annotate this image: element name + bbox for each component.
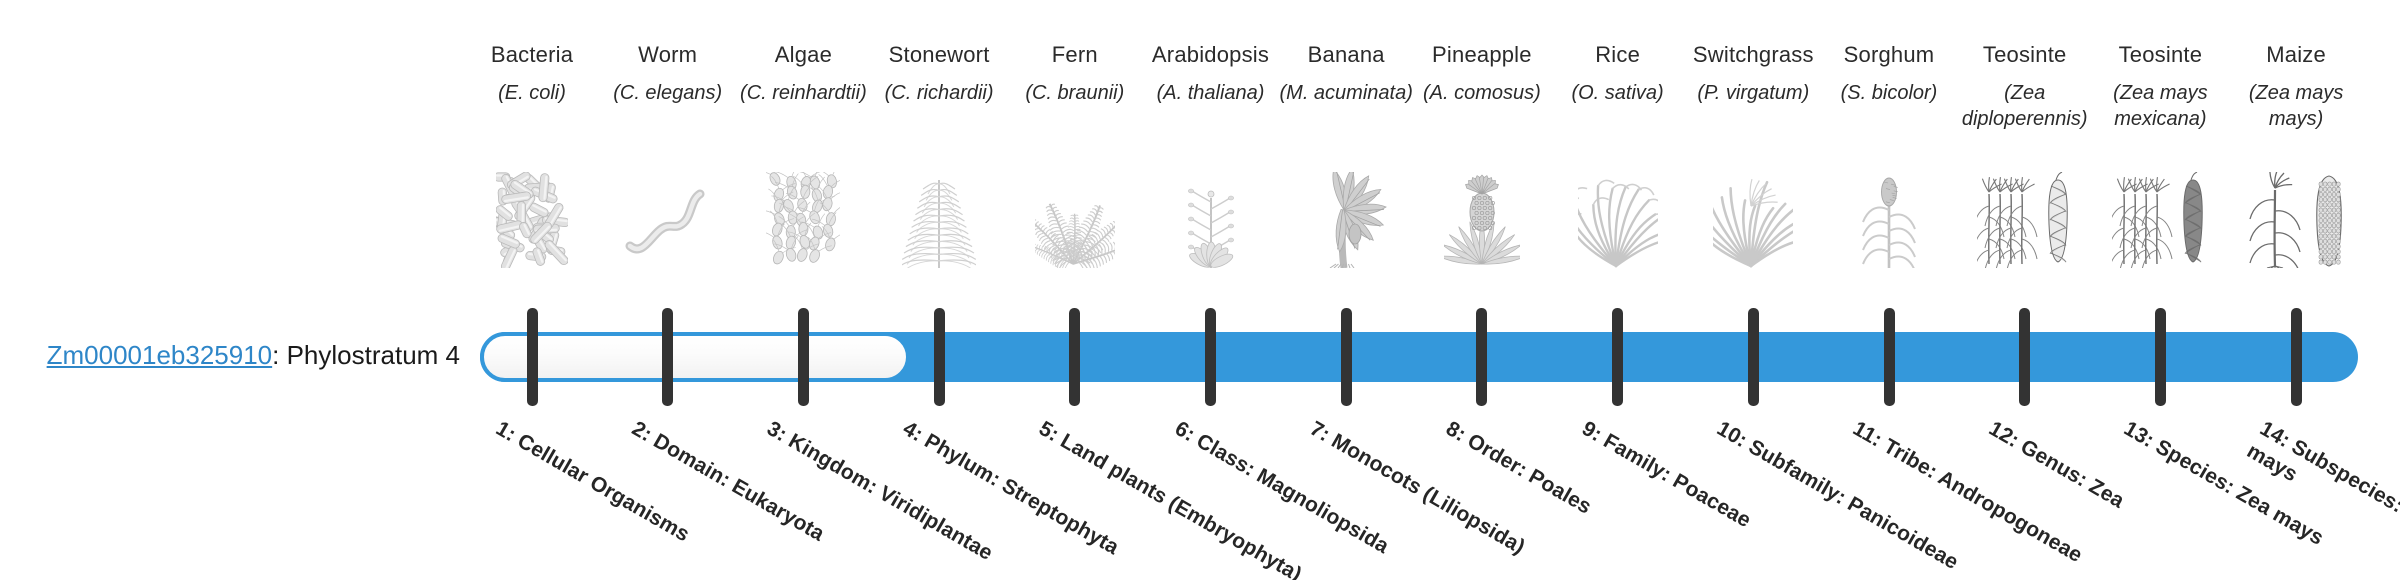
phylostratum-tick-6[interactable] [1205,308,1216,406]
phylostratum-rank-label-2: 2: Domain: Eukaryota [627,416,900,580]
sorghum-illustration [1821,168,1957,268]
teosinte-diploperennis-illustration [1957,168,2093,268]
phylostratum-tick-14[interactable] [2291,308,2302,406]
species-column-9: Rice(O. sativa) [1550,40,1686,106]
species-latin-name: (Zea diploperennis) [1957,80,2093,132]
species-column-7: Banana(M. acuminata) [1278,40,1414,106]
phylostratum-rank-label-7: 7: Monocots (Liliopsida) [1305,416,1578,580]
species-column-5: Fern(C. braunii) [1007,40,1143,106]
worm-illustration [600,168,736,268]
species-common-name: Pineapple [1414,40,1550,70]
species-common-name: Teosinte [1957,40,2093,70]
species-latin-name: (M. acuminata) [1278,80,1414,106]
rice-illustration [1550,168,1686,268]
phylostratum-rank-label-9: 9: Family: Poaceae [1577,416,1850,580]
species-latin-name: (C. reinhardtii) [735,80,871,106]
phylostratum-tick-8[interactable] [1476,308,1487,406]
arabidopsis-illustration [1143,168,1279,268]
fern-illustration [1007,168,1143,268]
species-column-8: Pineapple(A. comosus) [1414,40,1550,106]
bacteria-illustration [464,168,600,268]
species-common-name: Fern [1007,40,1143,70]
species-latin-name: (S. bicolor) [1821,80,1957,106]
species-columns: Bacteria(E. coli) [0,0,2400,580]
species-common-name: Rice [1550,40,1686,70]
phylostratum-tick-5[interactable] [1069,308,1080,406]
teosinte-mexicana-illustration [2092,168,2228,268]
species-column-10: Switchgrass(P. virgatum) [1685,40,1821,106]
species-common-name: Worm [600,40,736,70]
species-column-11: Sorghum(S. bicolor) [1821,40,1957,106]
phylostratum-tick-12[interactable] [2019,308,2030,406]
phylostratum-tick-4[interactable] [934,308,945,406]
species-latin-name: (P. virgatum) [1685,80,1821,106]
phylostratum-tick-1[interactable] [527,308,538,406]
phylostratum-rank-label-10: 10: Subfamily: Panicoideae [1712,416,1985,580]
phylostratum-rank-label-3: 3: Kingdom: Viridiplantae [762,416,1035,580]
phylostratum-rank-label-1: 1: Cellular Organisms [491,416,764,580]
maize-illustration [2228,168,2364,268]
species-latin-name: (A. thaliana) [1143,80,1279,106]
species-common-name: Arabidopsis [1143,40,1279,70]
species-common-name: Algae [735,40,871,70]
species-latin-name: (Zea mays mexicana) [2092,80,2228,132]
species-common-name: Teosinte [2092,40,2228,70]
phylostratum-tick-9[interactable] [1612,308,1623,406]
species-column-2: Worm(C. elegans) [600,40,736,106]
species-column-13: Teosinte(Zea mays mexicana) [2092,40,2228,132]
phylostratum-tick-7[interactable] [1341,308,1352,406]
species-column-6: Arabidopsis(A. thaliana) [1143,40,1279,106]
species-latin-name: (O. sativa) [1550,80,1686,106]
species-column-12: Teosinte(Zea diploperennis) [1957,40,2093,132]
phylostratum-rank-label-12: 12: Genus: Zea [1984,416,2257,580]
phylostratum-tick-11[interactable] [1884,308,1895,406]
species-latin-name: (A. comosus) [1414,80,1550,106]
phylostratum-tick-3[interactable] [798,308,809,406]
species-column-1: Bacteria(E. coli) [464,40,600,106]
pineapple-illustration [1414,168,1550,268]
species-common-name: Maize [2228,40,2364,70]
species-common-name: Sorghum [1821,40,1957,70]
species-latin-name: (E. coli) [464,80,600,106]
algae-illustration [735,168,871,268]
phylostratum-tick-2[interactable] [662,308,673,406]
species-latin-name: (C. elegans) [600,80,736,106]
phylostratum-tick-13[interactable] [2155,308,2166,406]
banana-illustration [1278,168,1414,268]
phylostratum-rank-label-8: 8: Order: Poales [1441,416,1714,580]
species-latin-name: (Zea mays mays) [2228,80,2364,132]
phylostratum-rank-label-4: 4: Phylum: Streptophyta [898,416,1171,580]
species-latin-name: (C. richardii) [871,80,1007,106]
species-column-3: Algae(C. reinhardtii) [735,40,871,106]
species-common-name: Stonewort [871,40,1007,70]
species-column-14: Maize(Zea mays mays) [2228,40,2364,132]
species-common-name: Switchgrass [1685,40,1821,70]
phylostratum-rank-label-11: 11: Tribe: Andropogoneae [1848,416,2121,580]
species-common-name: Banana [1278,40,1414,70]
phylostratum-timeline-widget: Zm00001eb325910: Phylostratum 4 Bacteria… [0,0,2400,580]
phylostratum-rank-label-6: 6: Class: Magnoliopsida [1170,416,1443,580]
phylostratum-rank-label-5: 5: Land plants (Embryophyta) [1034,416,1307,580]
species-column-4: Stonewort(C. richardii) [871,40,1007,106]
phylostratum-tick-10[interactable] [1748,308,1759,406]
species-common-name: Bacteria [464,40,600,70]
switchgrass-illustration [1685,168,1821,268]
stonewort-illustration [871,168,1007,268]
species-latin-name: (C. braunii) [1007,80,1143,106]
